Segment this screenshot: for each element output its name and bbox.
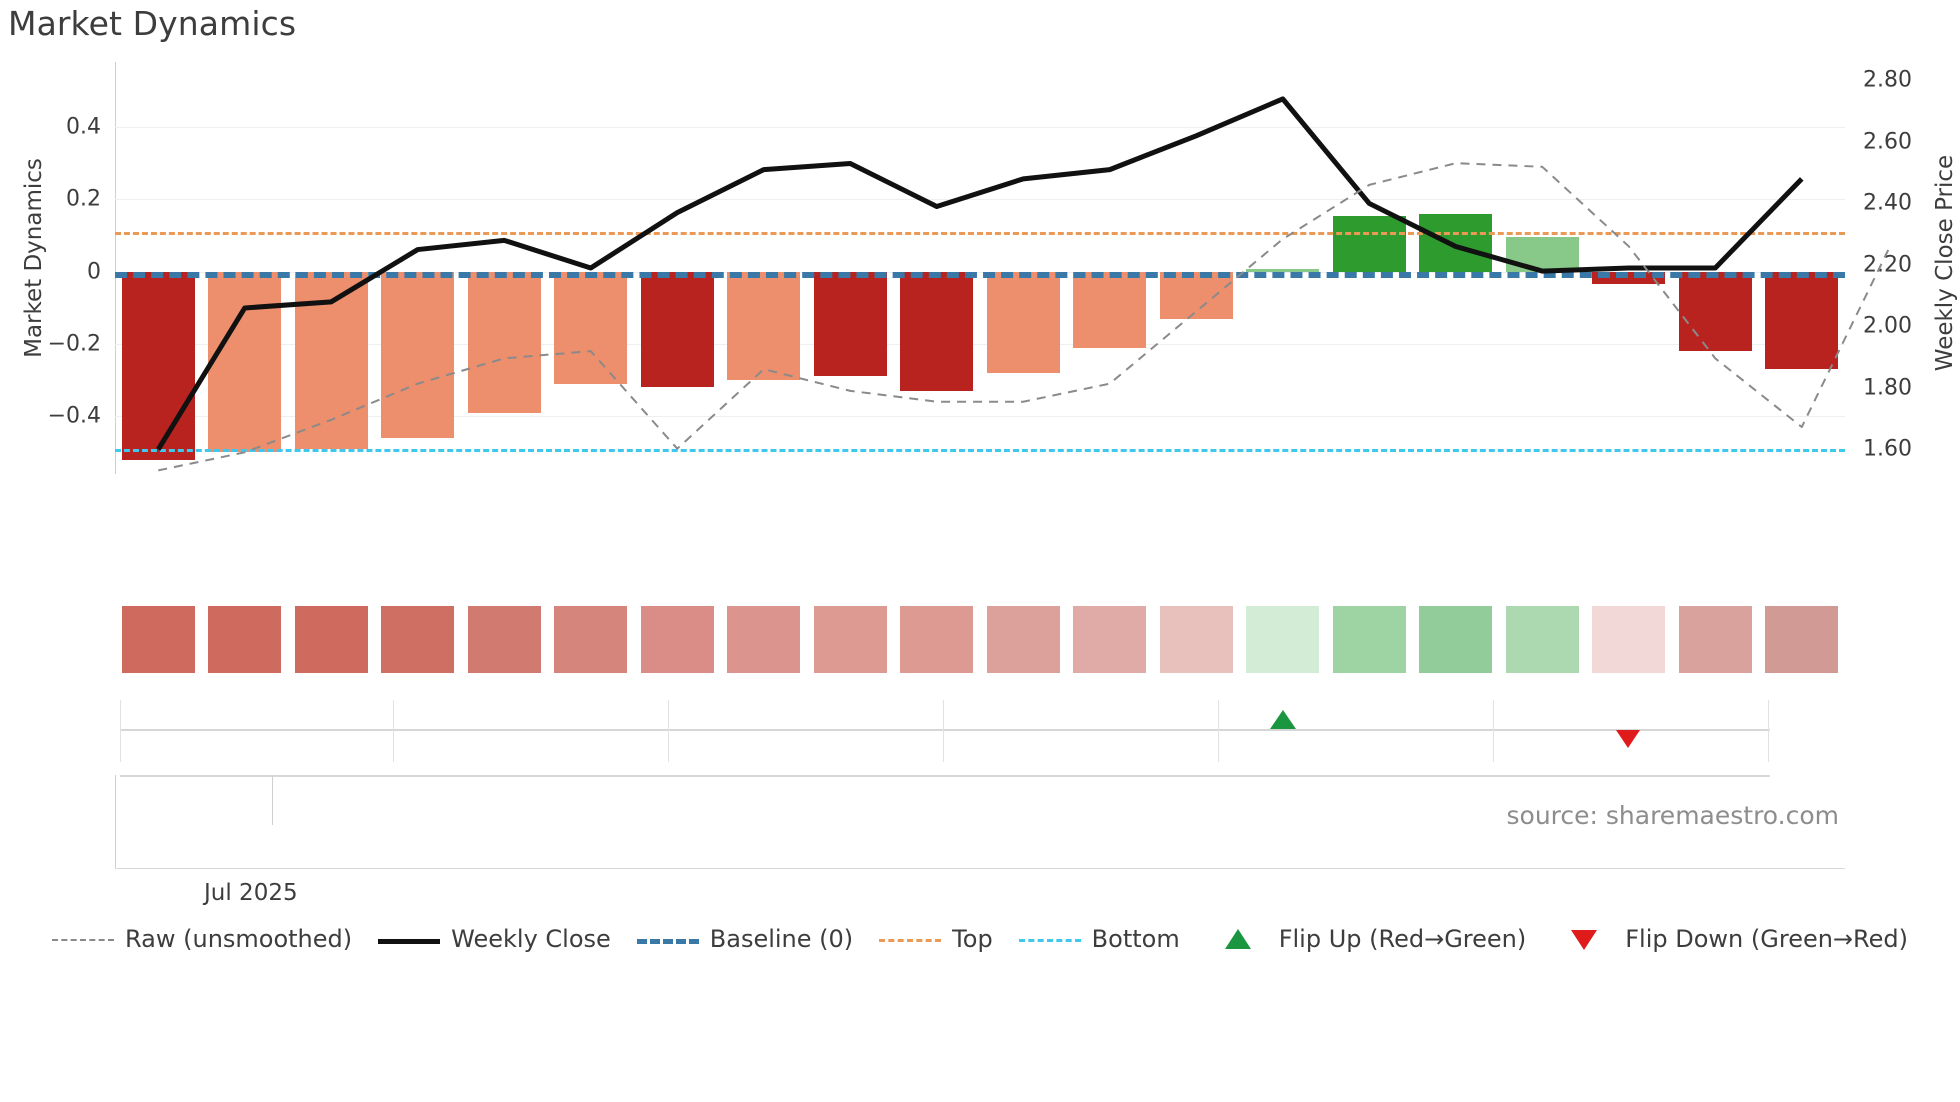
- dotted-cyan-line-icon: [1019, 930, 1081, 948]
- lower-frame-spine: [115, 775, 116, 869]
- flip-axis-tick: [393, 700, 394, 762]
- heat-strip-cell: [1592, 606, 1665, 673]
- heat-strip-cell: [1073, 606, 1146, 673]
- down-triangle-marker-icon: [1552, 930, 1614, 948]
- legend-label: Flip Up (Red→Green): [1279, 925, 1527, 953]
- flip-down-marker: [1616, 730, 1640, 748]
- right-tick-label: 2.60: [1863, 129, 1912, 154]
- right-tick-label: 2.80: [1863, 68, 1912, 93]
- heat-strip-cell: [208, 606, 281, 673]
- legend-label: Raw (unsmoothed): [125, 925, 352, 953]
- legend-line-swatch: [637, 939, 699, 944]
- legend-label: Flip Down (Green→Red): [1625, 925, 1908, 953]
- legend-marker-swatch: [1225, 929, 1251, 949]
- flip-up-marker: [1270, 710, 1296, 729]
- regime-heat-strip: [115, 606, 1845, 673]
- main-plot-area: 0.40.20−0.2−0.4 2.802.602.402.202.001.80…: [115, 62, 1845, 474]
- legend-label: Weekly Close: [451, 925, 611, 953]
- heat-strip-cell: [468, 606, 541, 673]
- lower-frame: source: sharemaestro.com: [115, 775, 1845, 870]
- left-tick-label: 0.4: [66, 115, 101, 140]
- lower-frame-bottom-rule: [115, 868, 1845, 869]
- flip-axis-tick: [668, 700, 669, 762]
- heat-strip-cell: [1333, 606, 1406, 673]
- dotted-orange-line-icon: [879, 930, 941, 948]
- chart-figure: Market Dynamics Market Dynamics Weekly C…: [0, 0, 1960, 1102]
- heat-strip-cell: [554, 606, 627, 673]
- heat-strip-cell: [814, 606, 887, 673]
- flip-axis-tick: [1218, 700, 1219, 762]
- source-attribution: source: sharemaestro.com: [1507, 801, 1840, 830]
- legend-item[interactable]: Top: [879, 925, 993, 953]
- solid-black-line-icon: [378, 930, 440, 948]
- heat-strip-cell: [381, 606, 454, 673]
- legend-label: Bottom: [1092, 925, 1180, 953]
- right-tick-label: 2.00: [1863, 314, 1912, 339]
- legend-line-swatch: [378, 939, 440, 944]
- legend-item[interactable]: Raw (unsmoothed): [52, 925, 352, 953]
- lower-frame-tick: [272, 775, 273, 825]
- left-tick-label: 0: [87, 259, 101, 284]
- up-triangle-marker-icon: [1206, 930, 1268, 948]
- legend-line-swatch: [52, 939, 114, 941]
- heat-strip-cell: [900, 606, 973, 673]
- legend-item[interactable]: Bottom: [1019, 925, 1180, 953]
- right-tick-label: 1.80: [1863, 375, 1912, 400]
- flip-axis-rule: [120, 729, 1770, 731]
- legend-item[interactable]: Flip Up (Red→Green): [1206, 925, 1527, 953]
- heat-strip-cell: [122, 606, 195, 673]
- line-series-overlay: [115, 62, 1845, 474]
- left-tick-label: −0.4: [48, 404, 101, 429]
- heat-strip-cell: [987, 606, 1060, 673]
- heat-strip-cell: [1679, 606, 1752, 673]
- heat-strip-cell: [727, 606, 800, 673]
- left-axis-label: Market Dynamics: [21, 138, 47, 378]
- heat-strip-cell: [1160, 606, 1233, 673]
- flip-axis-tick: [1493, 700, 1494, 762]
- right-tick-label: 2.20: [1863, 252, 1912, 277]
- heat-strip-cell: [1246, 606, 1319, 673]
- weekly-close-line: [158, 99, 1802, 450]
- flip-axis-tick: [120, 700, 121, 762]
- legend-line-swatch: [879, 939, 941, 942]
- heat-strip-cell: [1419, 606, 1492, 673]
- legend-label: Baseline (0): [710, 925, 853, 953]
- dashed-blue-line-icon: [637, 930, 699, 948]
- legend-item[interactable]: Baseline (0): [637, 925, 853, 953]
- heat-strip-cell: [295, 606, 368, 673]
- right-tick-label: 1.60: [1863, 437, 1912, 462]
- legend-item[interactable]: Weekly Close: [378, 925, 611, 953]
- right-axis-label: Weekly Close Price: [1932, 143, 1958, 383]
- flip-axis-tick: [943, 700, 944, 762]
- legend-line-swatch: [1019, 939, 1081, 942]
- lower-frame-top-rule: [120, 775, 1770, 777]
- legend-marker-swatch: [1571, 930, 1597, 950]
- right-tick-label: 2.40: [1863, 191, 1912, 216]
- chart-title: Market Dynamics: [8, 4, 296, 43]
- heat-strip-cell: [1506, 606, 1579, 673]
- left-tick-label: 0.2: [66, 187, 101, 212]
- flip-axis-tick: [1768, 700, 1769, 762]
- heat-strip-cell: [1765, 606, 1838, 673]
- legend-item[interactable]: Flip Down (Green→Red): [1552, 925, 1908, 953]
- raw-unsmoothed-line: [158, 163, 1888, 470]
- left-tick-label: −0.2: [48, 331, 101, 356]
- x-axis-tick-label: Jul 2025: [204, 880, 298, 906]
- heat-strip-cell: [641, 606, 714, 673]
- legend-label: Top: [952, 925, 993, 953]
- dashed-gray-line-icon: [52, 930, 114, 948]
- chart-legend: Raw (unsmoothed)Weekly CloseBaseline (0)…: [0, 925, 1960, 953]
